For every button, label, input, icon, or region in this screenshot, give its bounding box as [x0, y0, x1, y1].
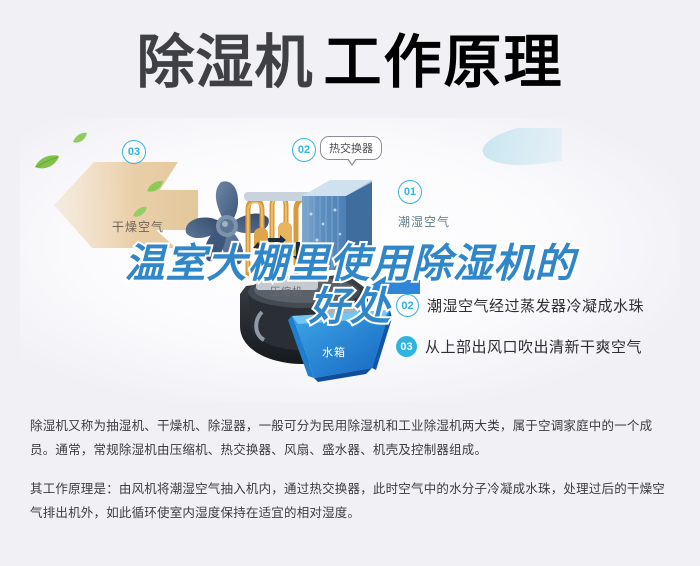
step-caption-list: 02 潮湿空气经过蒸发器冷凝成水珠 03 从上部出风口吹出清新干爽空气 [396, 294, 696, 376]
body-copy: 除湿机又称为抽湿机、干燥机、除湿器，一般可分为民用除湿机和工业除湿机两大类，属于… [30, 414, 675, 526]
diagram-badge-02: 02 [292, 138, 316, 162]
heat-exchanger-callout: 热交换器 [320, 136, 382, 160]
step-badge-02: 02 [396, 294, 419, 317]
evaporator-icon [300, 166, 374, 278]
label-dry-air: 干燥空气 [112, 218, 164, 235]
label-compressor: 压缩机 [270, 283, 303, 298]
page-title-secondary: 工作原理 [324, 34, 564, 92]
label-humid-air: 潮湿空气 [398, 213, 450, 230]
step-caption-item: 03 从上部出风口吹出清新干爽空气 [396, 336, 696, 357]
diagram-badge-01: 01 [398, 180, 422, 204]
step-badge-03: 03 [396, 336, 417, 357]
page-title-primary: 除湿机 [136, 34, 313, 92]
leaf-icon [146, 180, 164, 193]
step-caption-text-03: 从上部出风口吹出清新干爽空气 [425, 336, 642, 357]
step-caption-item: 02 潮湿空气经过蒸发器冷凝成水珠 [396, 294, 696, 317]
page-root: 除湿机 工作原理 [0, 0, 700, 566]
leaf-icon [72, 132, 88, 144]
leaf-icon [34, 154, 60, 170]
body-paragraph-1: 除湿机又称为抽湿机、干燥机、除湿器，一般可分为民用除湿机和工业除湿机两大类，属于… [30, 414, 675, 463]
step-caption-text-02: 潮湿空气经过蒸发器冷凝成水珠 [427, 295, 644, 316]
label-water-tank: 水箱 [322, 344, 346, 360]
diagram-badge-03: 03 [122, 140, 146, 164]
humid-air-swoosh-tail [480, 128, 562, 172]
page-header: 除湿机 工作原理 [0, 24, 700, 102]
leaf-icon [132, 206, 148, 218]
body-paragraph-2: 其工作原理是：由风机将潮湿空气抽入机内，通过热交换器，此时空气中的水分子冷凝成水… [30, 477, 675, 526]
